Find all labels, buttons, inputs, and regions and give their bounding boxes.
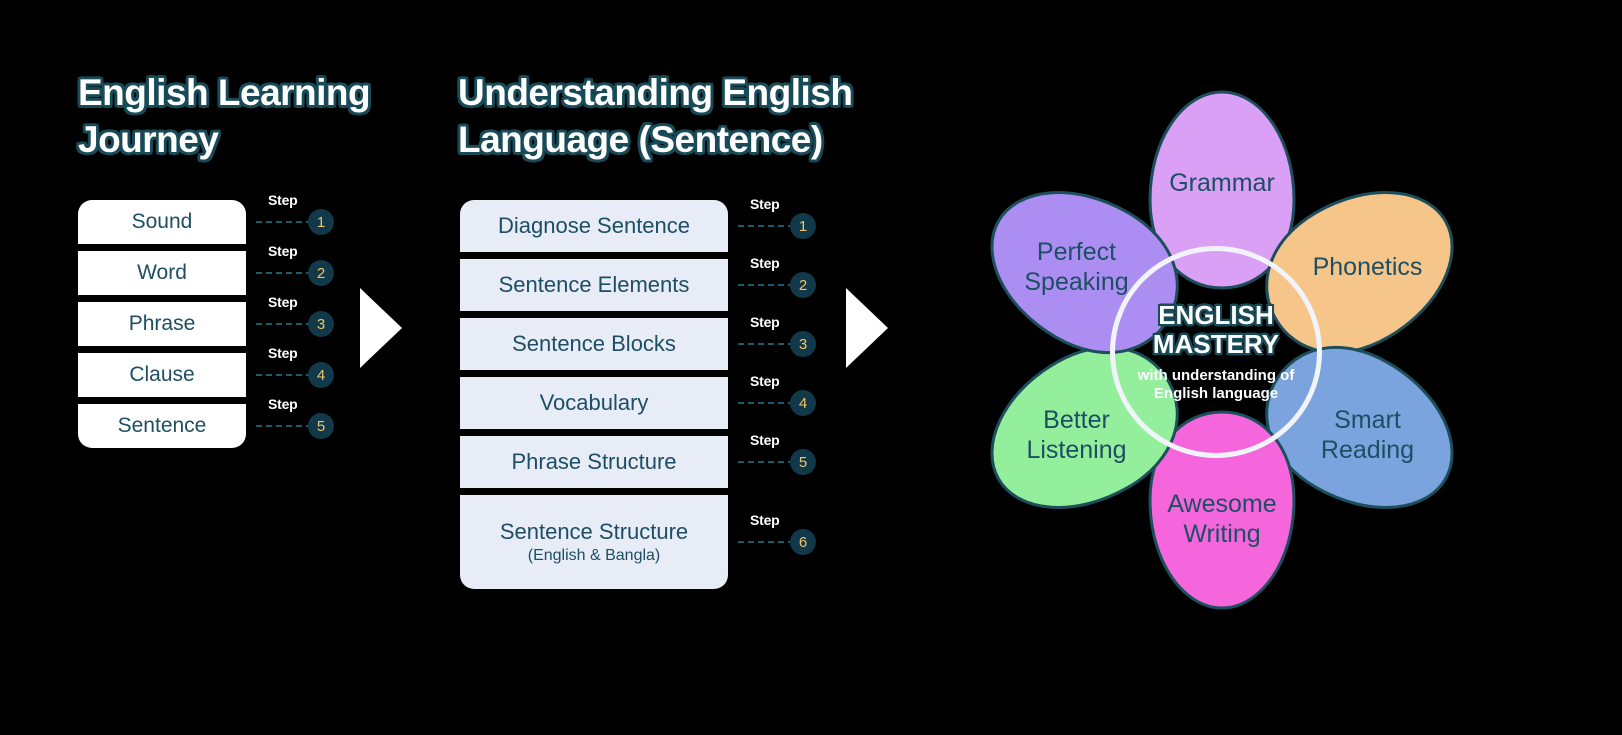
- badge-connector-line: [738, 541, 794, 543]
- step-number-badge: 6: [790, 529, 816, 555]
- step-badge: 3Step: [256, 311, 334, 337]
- step-card[interactable]: Sentence Elements: [460, 259, 728, 311]
- step-badge: 4Step: [738, 390, 816, 416]
- step-number-badge: 3: [308, 311, 334, 337]
- step-row[interactable]: Sentence Elements2Step: [460, 259, 728, 311]
- step-word-label: Step: [268, 345, 298, 361]
- step-word-label: Step: [268, 243, 298, 259]
- step-number-badge: 4: [308, 362, 334, 388]
- step-word-label: Step: [750, 512, 780, 528]
- step-badge: 5Step: [256, 413, 334, 439]
- petal-label-grammar: Grammar: [1169, 169, 1275, 197]
- step-number-badge: 2: [308, 260, 334, 286]
- mastery-subtitle: with understanding of English language: [1138, 367, 1295, 403]
- step-card[interactable]: Diagnose Sentence: [460, 200, 728, 252]
- step-badge: 4Step: [256, 362, 334, 388]
- step-row[interactable]: Word2Step: [78, 251, 246, 295]
- step-badge: 5Step: [738, 449, 816, 475]
- step-number-badge: 1: [308, 209, 334, 235]
- step-word-label: Step: [750, 255, 780, 271]
- step-badge: 6Step: [738, 529, 816, 555]
- step-badge: 1Step: [738, 213, 816, 239]
- step-card-label: Sentence Elements: [499, 272, 690, 298]
- step-badge: 2Step: [738, 272, 816, 298]
- step-card-label: Phrase Structure: [511, 449, 676, 475]
- step-card-label: Clause: [129, 363, 194, 387]
- step-card-label: Diagnose Sentence: [498, 213, 690, 239]
- infographic-canvas: English Learning Journey Sound1StepWord2…: [0, 0, 1622, 735]
- badge-connector-line: [738, 402, 794, 404]
- step-word-label: Step: [268, 192, 298, 208]
- step-word-label: Step: [268, 294, 298, 310]
- step-number-badge: 5: [790, 449, 816, 475]
- triangle-right-icon: [846, 288, 888, 368]
- step-card-label: Sound: [132, 210, 193, 234]
- step-row[interactable]: Diagnose Sentence1Step: [460, 200, 728, 252]
- badge-connector-line: [256, 272, 312, 274]
- column-one-heading: English Learning Journey: [78, 70, 438, 164]
- step-word-label: Step: [750, 432, 780, 448]
- petal-label-phonetics: Phonetics: [1313, 253, 1423, 281]
- step-card-label: Vocabulary: [540, 390, 649, 416]
- step-card[interactable]: Sound: [78, 200, 246, 244]
- badge-connector-line: [738, 225, 794, 227]
- step-card[interactable]: Sentence: [78, 404, 246, 448]
- step-card-label: Word: [137, 261, 187, 285]
- badge-connector-line: [256, 323, 312, 325]
- step-card-label: Sentence: [118, 414, 207, 438]
- step-row[interactable]: Phrase Structure5Step: [460, 436, 728, 488]
- badge-connector-line: [738, 461, 794, 463]
- step-row[interactable]: Sentence5Step: [78, 404, 246, 448]
- step-card-label: Sentence Blocks: [512, 331, 676, 357]
- step-card-sublabel: (English & Bangla): [528, 547, 661, 565]
- step-badge: 1Step: [256, 209, 334, 235]
- step-number-badge: 2: [790, 272, 816, 298]
- step-row[interactable]: Vocabulary4Step: [460, 377, 728, 429]
- step-word-label: Step: [750, 196, 780, 212]
- step-row[interactable]: Sentence Structure(English & Bangla)6Ste…: [460, 495, 728, 589]
- step-card[interactable]: Sentence Structure(English & Bangla): [460, 495, 728, 589]
- badge-connector-line: [738, 284, 794, 286]
- badge-connector-line: [256, 221, 312, 223]
- triangle-right-icon: [360, 288, 402, 368]
- step-number-badge: 3: [790, 331, 816, 357]
- step-word-label: Step: [750, 314, 780, 330]
- step-card-label: Sentence Structure: [500, 519, 688, 545]
- step-number-badge: 1: [790, 213, 816, 239]
- step-number-badge: 4: [790, 390, 816, 416]
- column-two-heading: Understanding English Language (Sentence…: [458, 70, 908, 164]
- column-one-steps: Sound1StepWord2StepPhrase3StepClause4Ste…: [78, 200, 246, 455]
- badge-connector-line: [738, 343, 794, 345]
- step-card-label: Phrase: [129, 312, 196, 336]
- step-card[interactable]: Phrase: [78, 302, 246, 346]
- step-row[interactable]: Clause4Step: [78, 353, 246, 397]
- step-row[interactable]: Sentence Blocks3Step: [460, 318, 728, 370]
- step-number-badge: 5: [308, 413, 334, 439]
- step-card[interactable]: Phrase Structure: [460, 436, 728, 488]
- step-badge: 2Step: [256, 260, 334, 286]
- badge-connector-line: [256, 425, 312, 427]
- center-mastery-circle: ENGLISH MASTERY with understanding of En…: [1110, 246, 1322, 458]
- step-card[interactable]: Word: [78, 251, 246, 295]
- step-card[interactable]: Vocabulary: [460, 377, 728, 429]
- column-two-steps: Diagnose Sentence1StepSentence Elements2…: [460, 200, 728, 596]
- step-card[interactable]: Sentence Blocks: [460, 318, 728, 370]
- mastery-title: ENGLISH MASTERY: [1153, 301, 1279, 358]
- step-word-label: Step: [750, 373, 780, 389]
- badge-connector-line: [256, 374, 312, 376]
- step-word-label: Step: [268, 396, 298, 412]
- step-card[interactable]: Clause: [78, 353, 246, 397]
- step-badge: 3Step: [738, 331, 816, 357]
- step-row[interactable]: Phrase3Step: [78, 302, 246, 346]
- step-row[interactable]: Sound1Step: [78, 200, 246, 244]
